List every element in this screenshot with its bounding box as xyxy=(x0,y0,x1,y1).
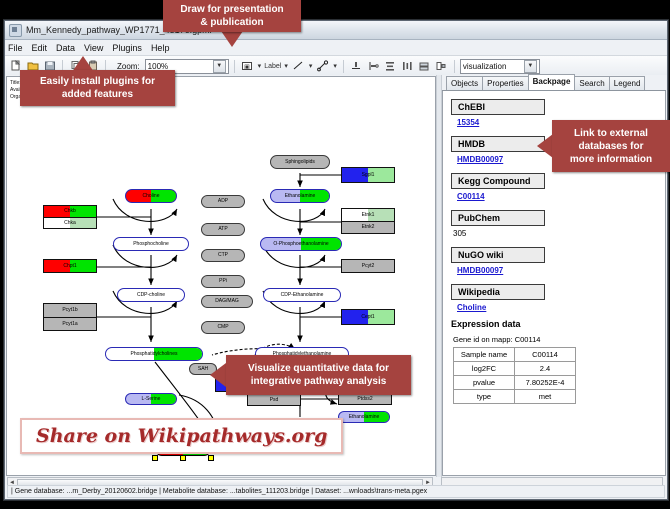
callout-plugins: Easily install plugins for added feature… xyxy=(20,70,175,106)
node-label: Phosphocholine xyxy=(133,242,169,247)
metabolite-node[interactable]: O-Phosphoethanolamine xyxy=(260,237,342,251)
node-label: Phosphatidylcholines xyxy=(131,352,178,357)
expression-data-title: Expression data xyxy=(451,319,665,329)
link-nugo[interactable]: HMDB00097 xyxy=(457,266,665,275)
node-label: Chpt1 xyxy=(63,263,76,269)
metabolite-node[interactable]: L-Serine xyxy=(125,393,177,405)
status-bar: | Gene database: ...m_Derby_20120602.bri… xyxy=(7,485,665,498)
order-icon[interactable] xyxy=(434,59,449,74)
node-label: Etnk1 xyxy=(362,212,375,218)
node-label: O-Phosphoethanolamine xyxy=(273,242,328,247)
tab-properties[interactable]: Properties xyxy=(482,76,528,90)
node-label: Pcyt1b xyxy=(62,307,77,313)
node-label: DAG/MAG xyxy=(215,299,239,304)
distribute-horizontal-icon[interactable] xyxy=(400,59,415,74)
status-area: ◄ ► | Gene database: ...m_Derby_20120602… xyxy=(5,477,667,499)
gene-row[interactable]: Psd xyxy=(248,394,300,405)
metabolite-node[interactable]: CDP-choline xyxy=(117,288,185,302)
table-cell-key: type xyxy=(454,390,515,404)
share-banner: Share on Wikipathways.org xyxy=(20,418,343,454)
metabolite-node[interactable]: CTP xyxy=(201,249,245,262)
section-header-kegg: Kegg Compound xyxy=(451,173,545,189)
menu-item-view[interactable]: View xyxy=(84,43,103,53)
table-cell-value: 2.4 xyxy=(515,362,576,376)
tab-search[interactable]: Search xyxy=(574,76,609,90)
toolbar-separator xyxy=(454,60,455,73)
arrow-tool-chevron-icon[interactable]: ▾ xyxy=(332,62,338,70)
metabolite-node[interactable]: Phosphatidylcholines xyxy=(105,347,203,361)
node-label: Etnk2 xyxy=(362,224,375,230)
distribute-vertical-icon[interactable] xyxy=(383,59,398,74)
shape-tool-icon[interactable]: ▣ xyxy=(240,59,255,74)
node-label: Pcyt1a xyxy=(62,321,77,327)
menu-item-edit[interactable]: Edit xyxy=(32,43,48,53)
gene-row[interactable]: Sgpl1 xyxy=(342,168,394,182)
label-tool-chevron-icon[interactable]: ▾ xyxy=(283,62,289,70)
callout-draw-text: Draw for presentation & publication xyxy=(180,3,283,29)
visualization-combobox[interactable]: visualization ▼ xyxy=(460,59,540,74)
node-label: CDP-Ethanolamine xyxy=(281,293,324,298)
table-row: log2FC 2.4 xyxy=(454,362,576,376)
callout-draw: Draw for presentation & publication xyxy=(163,0,301,32)
callout-link: Link to external databases for more info… xyxy=(552,120,670,172)
tab-backpage[interactable]: Backpage xyxy=(528,74,576,90)
line-tool-icon[interactable] xyxy=(291,59,306,74)
pathway-canvas[interactable]: Title: Availa Organ xyxy=(6,76,436,476)
table-cell-key: Sample name xyxy=(454,348,515,362)
gene-row[interactable]: Chpt1 xyxy=(44,260,96,272)
callout-plugins-text: Easily install plugins for added feature… xyxy=(40,75,155,101)
gene-row[interactable]: Etnk1 xyxy=(342,209,394,222)
table-row: type met xyxy=(454,390,576,404)
node-label: L-Serine xyxy=(142,397,161,402)
link-wikipedia[interactable]: Choline xyxy=(457,303,665,312)
metabolite-node[interactable]: Phosphocholine xyxy=(113,237,189,251)
toolbar-separator xyxy=(234,60,235,73)
section-header-wikipedia: Wikipedia xyxy=(451,284,545,300)
callout-link-text: Link to external databases for more info… xyxy=(570,127,652,166)
shape-tool-chevron-icon[interactable]: ▾ xyxy=(257,62,263,70)
gene-row[interactable]: Cept1 xyxy=(342,310,394,324)
table-cell-key: pvalue xyxy=(454,376,515,390)
align-left-icon[interactable] xyxy=(366,59,381,74)
gene-product-node[interactable]: Chpt1 xyxy=(43,259,97,273)
section-header-nugo: NuGO wiki xyxy=(451,247,545,263)
table-row: pvalue 7.80252E-4 xyxy=(454,376,576,390)
metabolite-node[interactable]: ADP xyxy=(201,195,245,208)
node-label: Sgpl1 xyxy=(362,172,375,178)
app-icon xyxy=(9,24,22,37)
callout-draw-arrow-icon xyxy=(221,31,243,47)
align-top-icon[interactable] xyxy=(349,59,364,74)
metabolite-node[interactable]: Sphingolipids xyxy=(270,155,330,169)
gene-row[interactable]: Chka xyxy=(44,218,96,229)
title-bar: Mm_Kennedy_pathway_WP1771_45176.gpml xyxy=(5,21,667,40)
screenshot-root: Mm_Kennedy_pathway_WP1771_45176.gpml Fil… xyxy=(0,0,670,509)
table-row: Sample name C00114 xyxy=(454,348,576,362)
node-label: ATP xyxy=(218,227,227,232)
arrow-tool-icon[interactable] xyxy=(315,59,330,74)
node-label: CTP xyxy=(218,253,228,258)
metabolite-node[interactable]: Choline xyxy=(125,189,177,203)
table-cell-value: 7.80252E-4 xyxy=(515,376,576,390)
selection-handle[interactable] xyxy=(152,455,158,461)
gene-product-node[interactable]: Sgpl1 xyxy=(341,167,395,183)
callout-link-arrow-icon xyxy=(537,134,553,158)
node-label: Psd xyxy=(270,397,279,403)
node-label: Pcyt2 xyxy=(362,263,375,269)
section-header-chebi: ChEBI xyxy=(451,99,545,115)
node-label: SAH xyxy=(198,367,208,372)
node-label: Ethanolamine xyxy=(349,415,380,420)
gene-row[interactable]: Pcyt1a xyxy=(44,318,96,331)
menu-bar: File Edit Data View Plugins Help xyxy=(5,40,667,56)
callout-visualize-text: Visualize quantitative data for integrat… xyxy=(248,362,389,388)
menu-item-help[interactable]: Help xyxy=(151,43,170,53)
menu-item-file[interactable]: File xyxy=(8,43,23,53)
gene-product-node[interactable]: Cept1 xyxy=(341,309,395,325)
toolbar-separator xyxy=(343,60,344,73)
metabolite-node[interactable]: Ethanolamine xyxy=(338,411,390,423)
callout-visualize-arrow-icon xyxy=(210,363,226,387)
gene-product-node[interactable]: Pcyt2 xyxy=(341,259,395,273)
metabolite-node[interactable]: PPi xyxy=(201,275,245,288)
metabolite-node[interactable]: DAG/MAG xyxy=(201,295,253,308)
svg-text:▣: ▣ xyxy=(244,65,250,71)
node-label: Cept1 xyxy=(361,314,374,320)
line-tool-chevron-icon[interactable]: ▾ xyxy=(308,62,314,70)
selection-handle[interactable] xyxy=(180,455,186,461)
section-header-pubchem: PubChem xyxy=(451,210,545,226)
label-tool-label[interactable]: Label xyxy=(264,63,281,70)
value-pubchem: 305 xyxy=(453,229,665,238)
node-label: Chka xyxy=(64,220,76,226)
metabolite-node[interactable]: CDP-Ethanolamine xyxy=(263,288,341,302)
tab-legend[interactable]: Legend xyxy=(609,76,646,90)
node-label: Ethanolamine xyxy=(285,194,316,199)
table-cell-key: log2FC xyxy=(454,362,515,376)
visualization-value: visualization xyxy=(463,62,524,71)
node-label: CDP-choline xyxy=(137,293,165,298)
gene-row[interactable]: Chkb xyxy=(44,206,96,218)
selection-handle[interactable] xyxy=(208,455,214,461)
chevron-down-icon[interactable]: ▼ xyxy=(213,60,226,73)
table-cell-value: C00114 xyxy=(515,348,576,362)
metabolite-node[interactable]: ATP xyxy=(201,223,245,236)
pathway-drawing[interactable]: Title: Availa Organ xyxy=(7,77,435,475)
link-kegg[interactable]: C00114 xyxy=(457,192,665,201)
gene-product-node[interactable]: Etnk1 Etnk2 xyxy=(341,208,395,234)
gene-id-note: Gene id on mapp: C00114 xyxy=(453,335,665,344)
gene-row[interactable]: Pcyt2 xyxy=(342,260,394,272)
metabolite-node[interactable]: Ethanolamine xyxy=(270,189,330,203)
node-label: Choline xyxy=(143,194,160,199)
chevron-down-icon[interactable]: ▼ xyxy=(524,60,537,73)
node-label: PPi xyxy=(219,279,227,284)
stack-icon[interactable] xyxy=(417,59,432,74)
menu-item-data[interactable]: Data xyxy=(56,43,75,53)
callout-visualize: Visualize quantitative data for integrat… xyxy=(226,355,411,395)
node-label: CMP xyxy=(217,325,228,330)
metabolite-node[interactable]: CMP xyxy=(201,321,245,334)
gene-product-node[interactable]: Chkb Chka xyxy=(43,205,97,229)
node-label: Ptdss2 xyxy=(357,396,372,402)
table-cell-value: met xyxy=(515,390,576,404)
tab-objects[interactable]: Objects xyxy=(446,76,483,90)
gene-row[interactable]: Etnk2 xyxy=(342,222,394,234)
menu-item-plugins[interactable]: Plugins xyxy=(112,43,142,53)
side-panel-tabs: Objects Properties Backpage Search Legen… xyxy=(442,76,666,91)
share-banner-text: Share on Wikipathways.org xyxy=(36,425,327,447)
node-label: ADP xyxy=(218,199,228,204)
node-label: Sphingolipids xyxy=(285,160,315,165)
gene-product-node[interactable]: Pcyt1b Pcyt1a xyxy=(43,303,97,331)
section-header-hmdb: HMDB xyxy=(451,136,545,152)
gene-row[interactable]: Pcyt1b xyxy=(44,304,96,318)
expression-table: Sample name C00114 log2FC 2.4 pvalue 7.8… xyxy=(453,347,576,404)
node-label: Chkb xyxy=(64,208,76,214)
